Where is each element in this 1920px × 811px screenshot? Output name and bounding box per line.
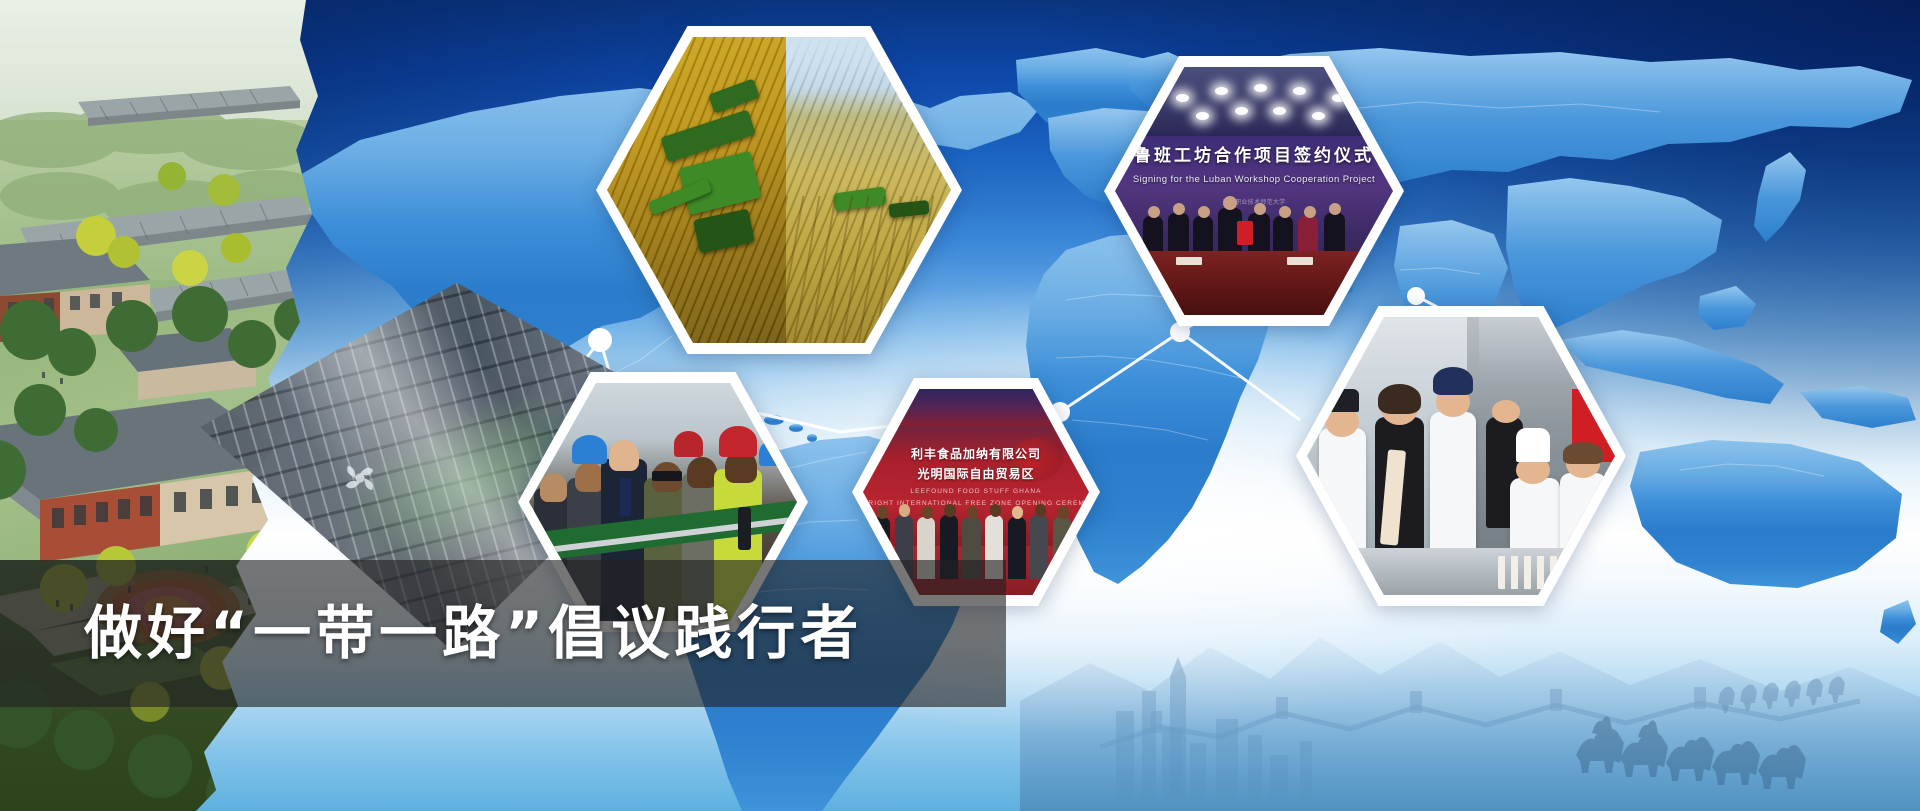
sunglasses xyxy=(652,471,681,481)
ceiling-light xyxy=(1235,107,1248,115)
banner-title-cn-line1: 利丰食品加纳有限公司 xyxy=(863,445,1089,462)
hex-photo-cooking-exchange[interactable] xyxy=(1296,306,1626,606)
worker-head xyxy=(609,440,638,471)
toque-icon xyxy=(1516,428,1550,461)
horizon-haze xyxy=(786,37,951,104)
ceiling-light xyxy=(1196,112,1209,120)
worker-head xyxy=(540,473,567,502)
delegate-head xyxy=(1304,206,1316,218)
ceiling-light xyxy=(1273,107,1286,115)
delegate-head xyxy=(1279,206,1291,218)
guest-head xyxy=(944,504,955,516)
guest-head xyxy=(967,506,978,518)
ceiling-light xyxy=(1293,87,1306,95)
signed-agreement-folder xyxy=(1237,221,1253,245)
banner-title-en-line2: BRIGHT INTERNATIONAL FREE ZONE OPENING C… xyxy=(863,500,1089,507)
banner-title-cn-line2: 光明国际自由贸易区 xyxy=(863,465,1089,482)
hex-photo-luban-workshop[interactable]: 鲁班工坊合作项目签约仪式 Signing for the Luban Works… xyxy=(1104,56,1404,326)
microphone-icon xyxy=(738,507,751,550)
worker-head xyxy=(575,462,604,493)
hex-photo-wheat-harvest[interactable] xyxy=(596,26,962,354)
worker-head xyxy=(687,457,716,488)
page-title: 做好“一带一路”倡议践行者 xyxy=(84,583,863,683)
field-swath-lines xyxy=(786,196,951,343)
ceiling-light xyxy=(1215,87,1228,95)
navy-chef-cap-icon xyxy=(1433,367,1473,395)
guest xyxy=(1030,515,1048,579)
guest-head xyxy=(1057,506,1068,518)
hair xyxy=(1378,384,1421,415)
backdrop-title-cn: 鲁班工坊合作项目签约仪式 xyxy=(1115,141,1393,166)
banner-hero: 鲁班工坊合作项目签约仪式 Signing for the Luban Works… xyxy=(0,0,1920,811)
ceiling-light xyxy=(1312,112,1325,120)
banner-title-en-line1: LEEFOUND FOOD STUFF GHANA xyxy=(863,488,1089,495)
backdrop-title-en: Signing for the Luban Workshop Cooperati… xyxy=(1115,174,1393,185)
leaf-emblem-icon xyxy=(338,456,382,500)
necktie xyxy=(620,478,631,516)
guest-head xyxy=(877,506,888,518)
guest xyxy=(1008,517,1026,579)
trainee-hair xyxy=(1563,442,1603,464)
red-hard-hat-icon xyxy=(674,431,703,457)
guest-head xyxy=(1035,504,1046,516)
blue-hard-hat-icon xyxy=(572,435,607,464)
table-nameplate xyxy=(1287,257,1313,265)
guest-head xyxy=(922,506,933,518)
table-nameplate xyxy=(1176,257,1202,265)
guest-head xyxy=(990,504,1001,516)
background-chef-face xyxy=(1492,400,1520,422)
red-hard-hat-icon xyxy=(719,426,757,457)
